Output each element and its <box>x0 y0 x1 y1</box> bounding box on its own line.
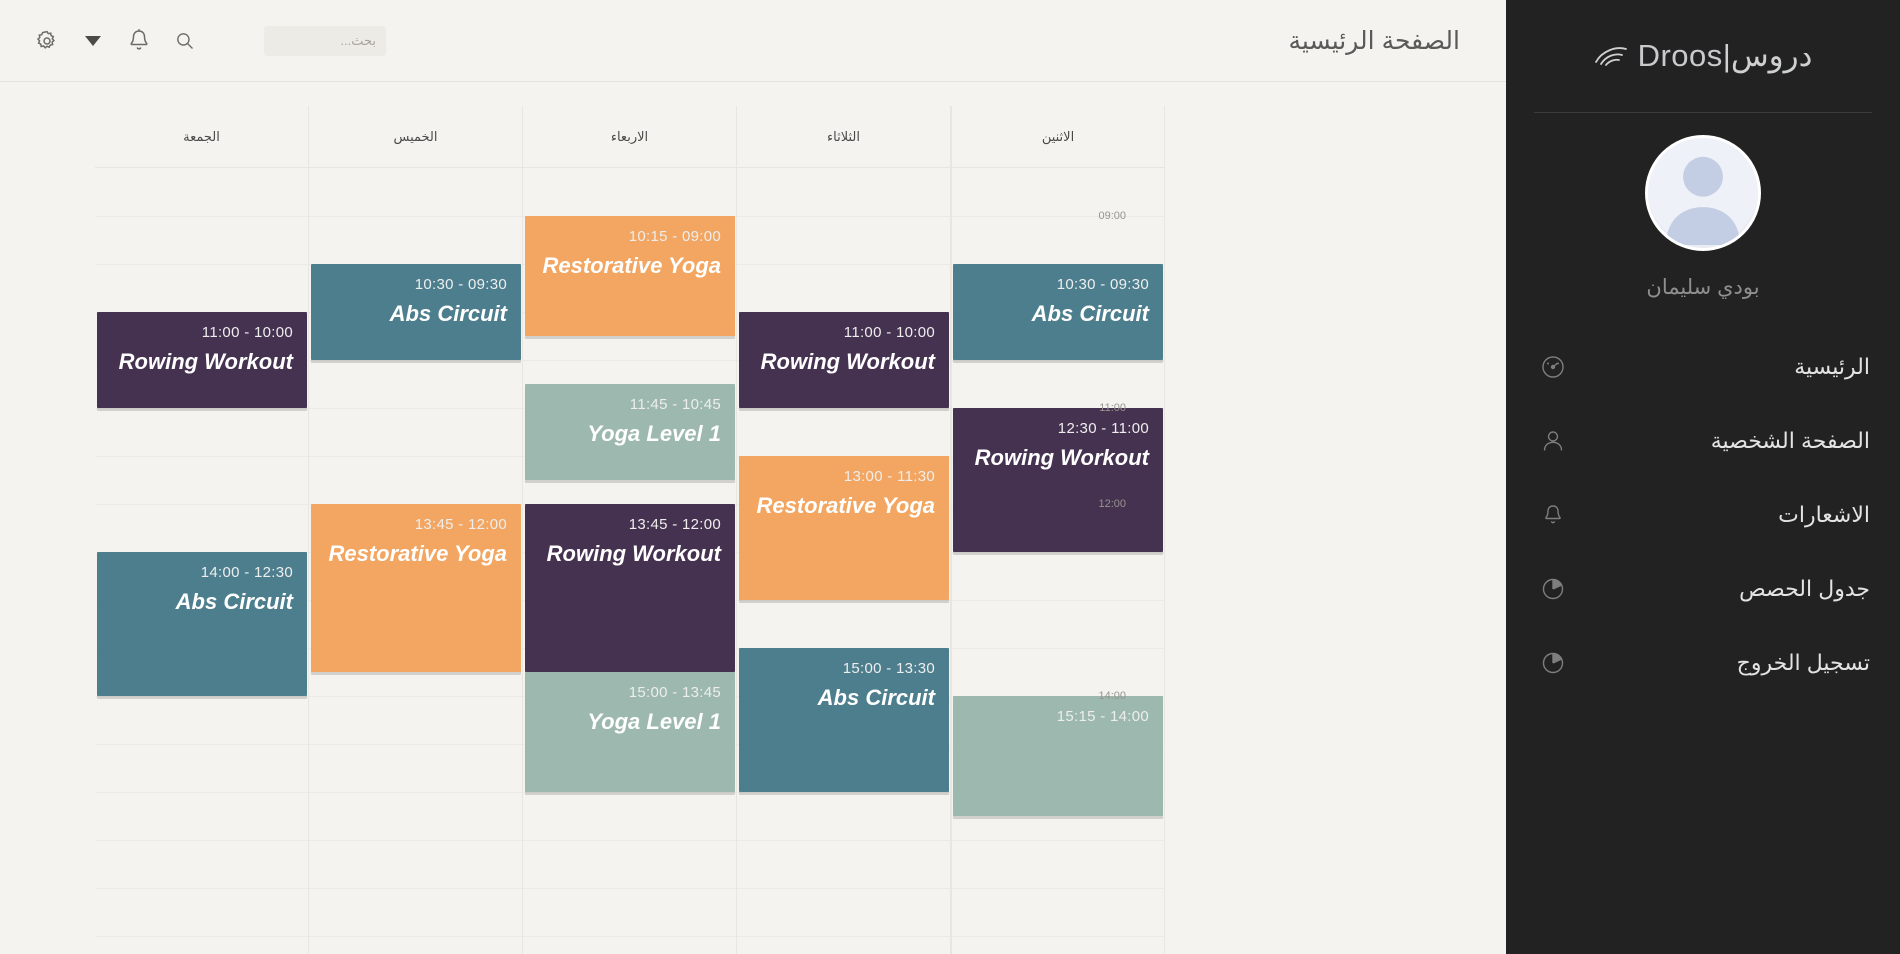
main-area: الصفحة الرئيسية <box>0 0 1506 954</box>
event-time: 13:45 - 12:00 <box>325 516 507 533</box>
calendar-event[interactable]: 13:00 - 11:30Restorative Yoga <box>739 456 949 600</box>
sidebar-item-label: الاشعارات <box>1588 502 1870 528</box>
hour-gridline <box>523 936 736 937</box>
brand-name-lat: Droos <box>1638 38 1723 73</box>
event-title: Rowing Workout <box>753 349 935 375</box>
calendar-event[interactable]: 15:00 - 13:30Abs Circuit <box>739 648 949 792</box>
username: بودي سليمان <box>1506 275 1900 300</box>
user-avatar-placeholder <box>1648 135 1758 248</box>
event-title: Restorative Yoga <box>753 493 935 519</box>
hour-gridline <box>952 600 1164 601</box>
calendar-event[interactable]: 14:00 - 12:30Abs Circuit <box>97 552 307 696</box>
hour-gridline <box>309 216 522 217</box>
calendar-event[interactable]: 10:30 - 09:30Abs Circuit <box>953 264 1163 360</box>
hour-gridline <box>737 888 950 889</box>
calendar-inner: الاثنينالثلاثاءالاربعاءالخميسالجمعة10:30… <box>0 106 1506 954</box>
sidebar-item-1[interactable]: الرئيسية <box>1506 330 1870 404</box>
hour-gridline <box>95 936 308 937</box>
pie-chart-icon <box>1540 576 1566 602</box>
wifi-waves-icon <box>1594 43 1628 69</box>
hour-gridline <box>95 408 308 409</box>
sidebar-item-label: تسجيل الخروج <box>1588 650 1870 676</box>
day-header: الاثنين <box>952 106 1164 168</box>
hour-gridline <box>309 456 522 457</box>
calendar-event[interactable]: 13:45 - 12:00Restorative Yoga <box>311 504 521 672</box>
hour-gridline <box>523 792 736 793</box>
event-time: 11:45 - 10:45 <box>539 396 721 413</box>
hour-gridline <box>737 840 950 841</box>
hour-gridline <box>737 264 950 265</box>
chevron-down-icon[interactable] <box>70 18 116 64</box>
pie-chart-icon <box>1540 650 1566 676</box>
event-time: 11:00 - 10:00 <box>111 324 293 341</box>
app-root: الصفحة الرئيسية <box>0 0 1900 954</box>
hour-gridline <box>95 696 308 697</box>
hour-gridline <box>309 888 522 889</box>
hour-gridline <box>952 360 1164 361</box>
event-title: Yoga Level 1 <box>539 421 721 447</box>
sidebar-item-5[interactable]: تسجيل الخروج <box>1506 626 1870 700</box>
brand[interactable]: دروس|Droos <box>1506 0 1900 112</box>
day-header: الاربعاء <box>523 106 736 168</box>
event-title: Abs Circuit <box>325 301 507 327</box>
event-title: Restorative Yoga <box>539 253 721 279</box>
sidebar-item-2[interactable]: الصفحة الشخصية <box>1506 404 1870 478</box>
brand-separator: | <box>1723 38 1731 73</box>
hour-gridline <box>523 360 736 361</box>
avatar-wrap <box>1506 135 1900 251</box>
hour-gridline <box>95 504 308 505</box>
hour-gridline <box>95 792 308 793</box>
sidebar: دروس|Droos بودي سليمان الرئيسية <box>1506 0 1900 954</box>
sidebar-item-label: جدول الحصص <box>1588 576 1870 602</box>
event-time: 15:00 - 13:30 <box>753 660 935 677</box>
sidebar-divider <box>1534 112 1872 113</box>
hour-gridline <box>95 264 308 265</box>
hour-gridline <box>95 888 308 889</box>
event-time: 11:00 - 10:00 <box>753 324 935 341</box>
event-time: 13:45 - 12:00 <box>539 516 721 533</box>
sidebar-nav: الرئيسيةالصفحة الشخصيةالاشعاراتجدول الحص… <box>1506 330 1900 700</box>
hour-gridline <box>309 408 522 409</box>
hour-gridline <box>952 648 1164 649</box>
time-axis: 09:0011:0012:0014:00 <box>1070 106 1130 954</box>
hour-gridline <box>737 792 950 793</box>
bell-icon <box>1540 502 1566 528</box>
day-header: الثلاثاء <box>737 106 950 168</box>
search-icon[interactable] <box>162 18 208 64</box>
sidebar-item-3[interactable]: الاشعارات <box>1506 478 1870 552</box>
calendar-event[interactable]: 10:30 - 09:30Abs Circuit <box>311 264 521 360</box>
calendar-event[interactable]: 12:30 - 11:00Rowing Workout <box>953 408 1163 552</box>
hour-gridline <box>95 744 308 745</box>
avatar[interactable] <box>1645 135 1761 251</box>
event-title: Abs Circuit <box>753 685 935 711</box>
event-title: Rowing Workout <box>111 349 293 375</box>
user-icon <box>1540 428 1566 454</box>
event-time: 10:15 - 09:00 <box>539 228 721 245</box>
hour-gridline <box>952 840 1164 841</box>
gear-icon[interactable] <box>24 18 70 64</box>
hour-gridline <box>952 216 1164 217</box>
page-title: الصفحة الرئيسية <box>1289 26 1460 56</box>
bell-icon[interactable] <box>116 18 162 64</box>
event-time: 10:30 - 09:30 <box>325 276 507 293</box>
hour-gridline <box>95 456 308 457</box>
caret-shape <box>85 36 101 46</box>
time-label: 09:00 <box>1098 210 1126 222</box>
sidebar-item-label: الرئيسية <box>1588 354 1870 380</box>
hour-gridline <box>309 696 522 697</box>
event-time: 13:00 - 11:30 <box>753 468 935 485</box>
brand-title: دروس|Droos <box>1638 38 1813 74</box>
sidebar-item-4[interactable]: جدول الحصص <box>1506 552 1870 626</box>
calendar-event[interactable]: 10:15 - 09:00Restorative Yoga <box>525 216 735 336</box>
day-header: الجمعة <box>95 106 308 168</box>
hour-gridline <box>952 936 1164 937</box>
hour-gridline <box>309 792 522 793</box>
event-title: Rowing Workout <box>539 541 721 567</box>
time-label: 14:00 <box>1098 690 1126 702</box>
hour-gridline <box>95 216 308 217</box>
calendar-event[interactable]: 11:00 - 10:00Rowing Workout <box>739 312 949 408</box>
event-time: 15:00 - 13:45 <box>539 684 721 701</box>
event-title: Restorative Yoga <box>325 541 507 567</box>
topbar-tools <box>24 18 386 64</box>
time-label: 12:00 <box>1098 498 1126 510</box>
calendar: الاثنينالثلاثاءالاربعاءالخميسالجمعة10:30… <box>0 82 1506 954</box>
event-title: Abs Circuit <box>111 589 293 615</box>
calendar-grid: الاثنينالثلاثاءالاربعاءالخميسالجمعة10:30… <box>95 106 1165 954</box>
hour-gridline <box>952 888 1164 889</box>
hour-gridline <box>309 744 522 745</box>
sidebar-item-label: الصفحة الشخصية <box>1588 428 1870 454</box>
day-column-5: الجمعة <box>95 106 309 954</box>
calendar-event[interactable]: 13:45 - 12:00Rowing Workout <box>525 504 735 672</box>
day-header: الخميس <box>309 106 522 168</box>
hour-gridline <box>737 408 950 409</box>
hour-gridline <box>737 216 950 217</box>
hour-gridline <box>737 600 950 601</box>
calendar-event[interactable]: 15:00 - 13:45Yoga Level 1 <box>525 672 735 792</box>
top-bar: الصفحة الرئيسية <box>0 0 1506 82</box>
search-input[interactable] <box>274 26 376 56</box>
hour-gridline <box>309 840 522 841</box>
calendar-event[interactable]: 11:00 - 10:00Rowing Workout <box>97 312 307 408</box>
calendar-event[interactable]: 11:45 - 10:45Yoga Level 1 <box>525 384 735 480</box>
hour-gridline <box>309 936 522 937</box>
hour-gridline <box>523 888 736 889</box>
event-title: Yoga Level 1 <box>539 709 721 735</box>
hour-gridline <box>309 360 522 361</box>
search-box[interactable] <box>264 26 386 56</box>
hour-gridline <box>737 936 950 937</box>
time-label: 11:00 <box>1099 402 1126 414</box>
dashboard-gauge-icon <box>1540 354 1566 380</box>
hour-gridline <box>523 840 736 841</box>
hour-gridline <box>952 552 1164 553</box>
hour-gridline <box>95 840 308 841</box>
brand-name-ar: دروس <box>1731 38 1813 73</box>
calendar-event[interactable]: 15:15 - 14:00 <box>953 696 1163 816</box>
event-time: 14:00 - 12:30 <box>111 564 293 581</box>
